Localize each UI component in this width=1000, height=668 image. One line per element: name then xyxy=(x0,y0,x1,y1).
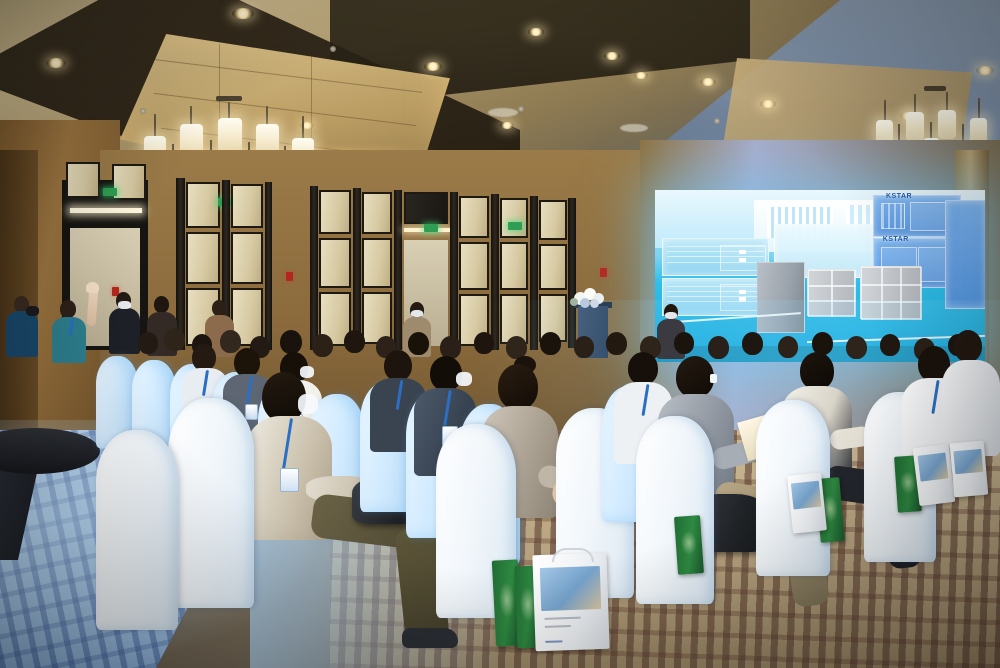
downlight-icon xyxy=(424,62,442,71)
white-conference-tote xyxy=(532,553,609,652)
wall-panel xyxy=(500,198,528,238)
chair-foreground-left-2 xyxy=(96,430,178,630)
transom-panel xyxy=(112,164,146,200)
head xyxy=(676,356,714,398)
face-mask xyxy=(298,394,318,414)
downlight-icon xyxy=(760,100,776,108)
downlight-icon xyxy=(976,66,994,75)
downlight-icon xyxy=(528,28,544,36)
sprinkler-icon xyxy=(714,118,720,124)
exit-sign-icon xyxy=(508,222,522,230)
tote-artwork xyxy=(917,453,949,482)
white-conference-tote xyxy=(787,472,827,533)
tote-artwork xyxy=(954,448,983,474)
screen-vent-panel xyxy=(739,290,746,294)
wall-panel xyxy=(459,196,489,238)
screen-vent-panel xyxy=(739,250,746,254)
screen-container-unit xyxy=(662,238,770,276)
earbud-icon xyxy=(710,374,717,383)
conference-hall-photo: KSTAR KSTAR xyxy=(0,0,1000,668)
wall-panel-dark xyxy=(404,192,448,224)
floral-arrangement xyxy=(566,284,612,310)
screen-vent-panel xyxy=(739,258,746,262)
screen-brand-kstar-upper: KSTAR xyxy=(886,193,912,200)
downlight-icon xyxy=(634,72,648,79)
wall-panel xyxy=(319,190,351,234)
white-conference-tote xyxy=(913,444,956,506)
wall-panel xyxy=(186,182,220,228)
wall-panel xyxy=(362,238,392,288)
air-vent-icon xyxy=(488,108,518,117)
exit-sign-icon xyxy=(424,224,438,232)
wall-panel xyxy=(186,232,220,284)
wall-panel xyxy=(500,242,528,290)
tote-artwork xyxy=(791,481,821,509)
wall-panel xyxy=(319,238,351,288)
wall-panel xyxy=(231,232,263,284)
wall-panel xyxy=(539,244,567,290)
white-conference-tote xyxy=(950,441,989,498)
downlight-icon xyxy=(700,78,716,86)
downlight-icon xyxy=(500,122,514,129)
screen-vent-panel xyxy=(739,297,746,301)
shoe xyxy=(402,628,458,648)
wall-panel xyxy=(362,192,392,234)
downlight-icon xyxy=(604,52,620,60)
audience-row-deep xyxy=(130,318,1000,376)
wall-panel xyxy=(539,200,567,240)
badge xyxy=(280,468,299,492)
exit-sign-icon xyxy=(103,188,117,196)
air-vent-icon xyxy=(620,124,648,132)
screen-container-far-right xyxy=(945,200,985,309)
wall-panel xyxy=(231,184,263,228)
screen-equipment-rack xyxy=(807,269,855,316)
fire-alarm-icon xyxy=(600,268,607,277)
chair-foreground-right xyxy=(636,416,714,604)
screen-equipment-rack xyxy=(860,266,921,320)
head xyxy=(498,364,538,410)
fire-alarm-icon xyxy=(286,272,293,281)
head xyxy=(800,352,834,390)
raised-hand-fingers xyxy=(86,282,99,293)
transom-panel xyxy=(66,162,100,198)
tote-artwork xyxy=(540,566,601,610)
sprinkler-icon xyxy=(330,46,336,52)
doorway-light-strip xyxy=(70,208,142,213)
sprinkler-icon xyxy=(518,106,524,112)
green-conference-folder xyxy=(674,515,704,575)
downlight-icon xyxy=(46,58,66,68)
chair-foreground-left xyxy=(168,398,254,608)
camera-icon xyxy=(26,306,39,316)
wall-panel xyxy=(459,242,489,290)
screen-brand-kstar-lower: KSTAR xyxy=(883,236,909,243)
downlight-icon xyxy=(232,8,254,19)
tote-handle xyxy=(552,548,594,562)
